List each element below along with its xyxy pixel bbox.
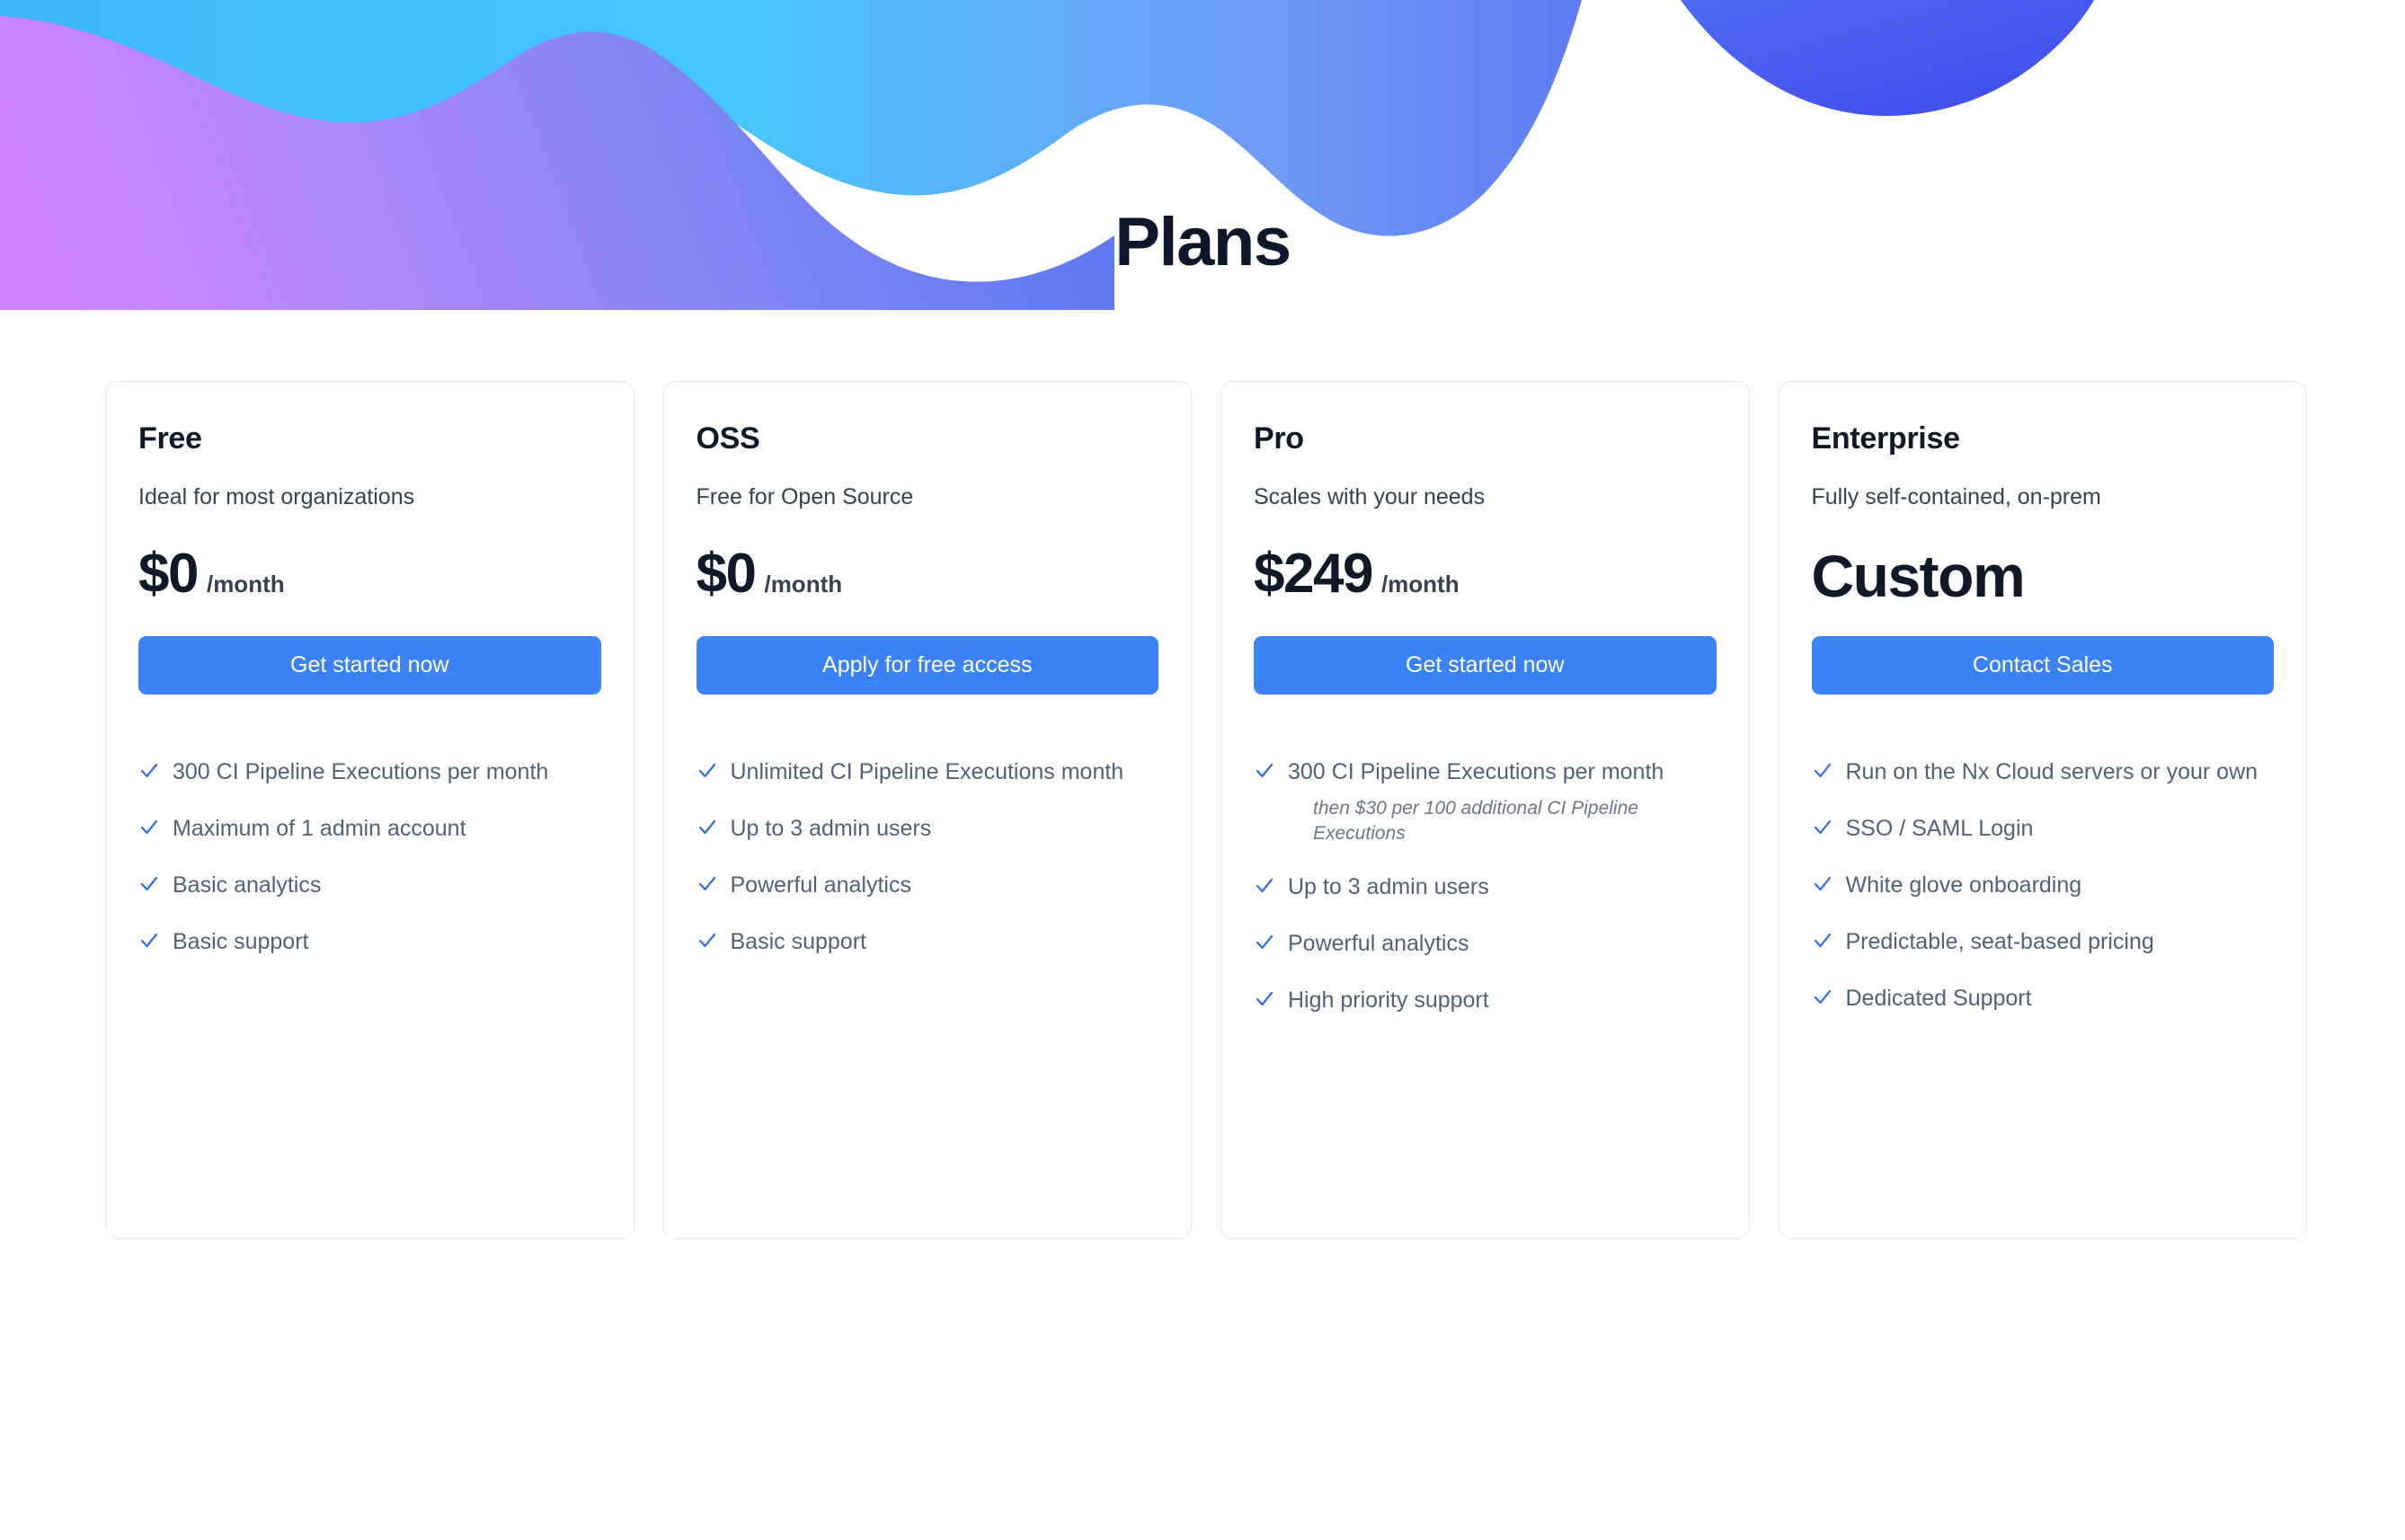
- feature-list: 300 CI Pipeline Executions per month the…: [1254, 756, 1717, 1017]
- check-icon: [1254, 872, 1275, 899]
- plan-price: $0 /month: [138, 546, 601, 606]
- feature-text: Predictable, seat-based pricing: [1846, 929, 2154, 954]
- feature-item: White glove onboarding: [1812, 869, 2275, 902]
- plan-price: $0 /month: [697, 546, 1159, 606]
- plan-name: Enterprise: [1812, 421, 2275, 456]
- price-amount: $0: [138, 546, 198, 602]
- feature-item: Dedicated Support: [1812, 982, 2275, 1015]
- price-period: /month: [764, 572, 842, 596]
- check-icon: [697, 814, 718, 841]
- price-period: /month: [207, 572, 285, 596]
- check-icon: [1254, 757, 1275, 784]
- plan-name: Free: [138, 421, 601, 456]
- check-icon: [138, 814, 160, 841]
- feature-item: Unlimited CI Pipeline Executions month: [697, 756, 1159, 789]
- cta-button-pro[interactable]: Get started now: [1254, 636, 1717, 695]
- cta-button-free[interactable]: Get started now: [138, 636, 601, 695]
- check-icon: [1812, 814, 1833, 841]
- feature-text: SSO / SAML Login: [1846, 816, 2034, 841]
- plan-tagline: Free for Open Source: [697, 482, 1159, 512]
- price-amount: Custom: [1812, 546, 2025, 606]
- price-amount: $0: [697, 546, 756, 602]
- check-icon: [1812, 871, 1833, 898]
- feature-text: Up to 3 admin users: [1288, 874, 1489, 899]
- feature-text: 300 CI Pipeline Executions per month: [1288, 759, 1664, 784]
- pricing-cards-row: Free Ideal for most organizations $0 /mo…: [105, 381, 2307, 1239]
- pricing-card-enterprise: Enterprise Fully self-contained, on-prem…: [1779, 381, 2308, 1239]
- feature-text: 300 CI Pipeline Executions per month: [173, 759, 548, 784]
- page-title: Plans: [0, 208, 2405, 277]
- pricing-card-oss: OSS Free for Open Source $0 /month Apply…: [663, 381, 1193, 1239]
- feature-text: Basic support: [173, 929, 308, 954]
- feature-text: Basic analytics: [173, 872, 321, 898]
- feature-item: Powerful analytics: [697, 869, 1159, 902]
- feature-item: Predictable, seat-based pricing: [1812, 925, 2275, 959]
- feature-text: Unlimited CI Pipeline Executions month: [731, 759, 1124, 784]
- pricing-page: Plans Free Ideal for most organizations …: [0, 0, 2405, 1540]
- price-amount: $249: [1254, 546, 1372, 602]
- feature-item: SSO / SAML Login: [1812, 812, 2275, 845]
- feature-item: Up to 3 admin users: [1254, 871, 1717, 904]
- price-period: /month: [1381, 572, 1460, 596]
- feature-text: Up to 3 admin users: [731, 816, 932, 841]
- feature-item: 300 CI Pipeline Executions per month the…: [1254, 756, 1717, 847]
- plan-tagline: Fully self-contained, on-prem: [1812, 482, 2275, 512]
- feature-item: Up to 3 admin users: [697, 812, 1159, 845]
- feature-list: Unlimited CI Pipeline Executions month U…: [697, 756, 1159, 959]
- cta-button-enterprise[interactable]: Contact Sales: [1812, 636, 2275, 695]
- feature-item: Basic analytics: [138, 869, 601, 902]
- check-icon: [697, 927, 718, 954]
- feature-text: High priority support: [1288, 987, 1489, 1013]
- feature-text: Powerful analytics: [731, 872, 911, 898]
- feature-item: Powerful analytics: [1254, 927, 1717, 960]
- check-icon: [697, 757, 718, 784]
- check-icon: [1812, 757, 1833, 784]
- pricing-card-pro: Pro Scales with your needs $249 /month G…: [1220, 381, 1750, 1239]
- feature-text: Basic support: [731, 929, 866, 954]
- feature-text: Maximum of 1 admin account: [173, 816, 466, 841]
- plan-name: Pro: [1254, 421, 1717, 456]
- plan-tagline: Scales with your needs: [1254, 482, 1717, 512]
- feature-text: Dedicated Support: [1846, 986, 2032, 1011]
- feature-note: then $30 per 100 additional CI Pipeline …: [1313, 796, 1717, 847]
- feature-item: Basic support: [138, 925, 601, 959]
- check-icon: [1812, 984, 1833, 1011]
- check-icon: [138, 927, 160, 954]
- plan-name: OSS: [697, 421, 1159, 456]
- feature-text: Powerful analytics: [1288, 931, 1469, 956]
- pricing-card-free: Free Ideal for most organizations $0 /mo…: [105, 381, 635, 1239]
- check-icon: [138, 757, 160, 784]
- check-icon: [138, 871, 160, 898]
- feature-list: Run on the Nx Cloud servers or your own …: [1812, 756, 2275, 1015]
- check-icon: [697, 871, 718, 898]
- feature-list: 300 CI Pipeline Executions per month Max…: [138, 756, 601, 959]
- check-icon: [1254, 929, 1275, 956]
- feature-item: 300 CI Pipeline Executions per month: [138, 756, 601, 789]
- feature-item: Maximum of 1 admin account: [138, 812, 601, 845]
- plan-price: Custom: [1812, 546, 2275, 606]
- feature-item: Run on the Nx Cloud servers or your own: [1812, 756, 2275, 789]
- cta-button-oss[interactable]: Apply for free access: [697, 636, 1159, 695]
- feature-text: Run on the Nx Cloud servers or your own: [1846, 759, 2259, 784]
- feature-item: Basic support: [697, 925, 1159, 959]
- feature-item: High priority support: [1254, 984, 1717, 1017]
- plan-price: $249 /month: [1254, 546, 1717, 606]
- feature-text: White glove onboarding: [1846, 872, 2082, 898]
- check-icon: [1254, 986, 1275, 1013]
- plan-tagline: Ideal for most organizations: [138, 482, 601, 512]
- check-icon: [1812, 927, 1833, 954]
